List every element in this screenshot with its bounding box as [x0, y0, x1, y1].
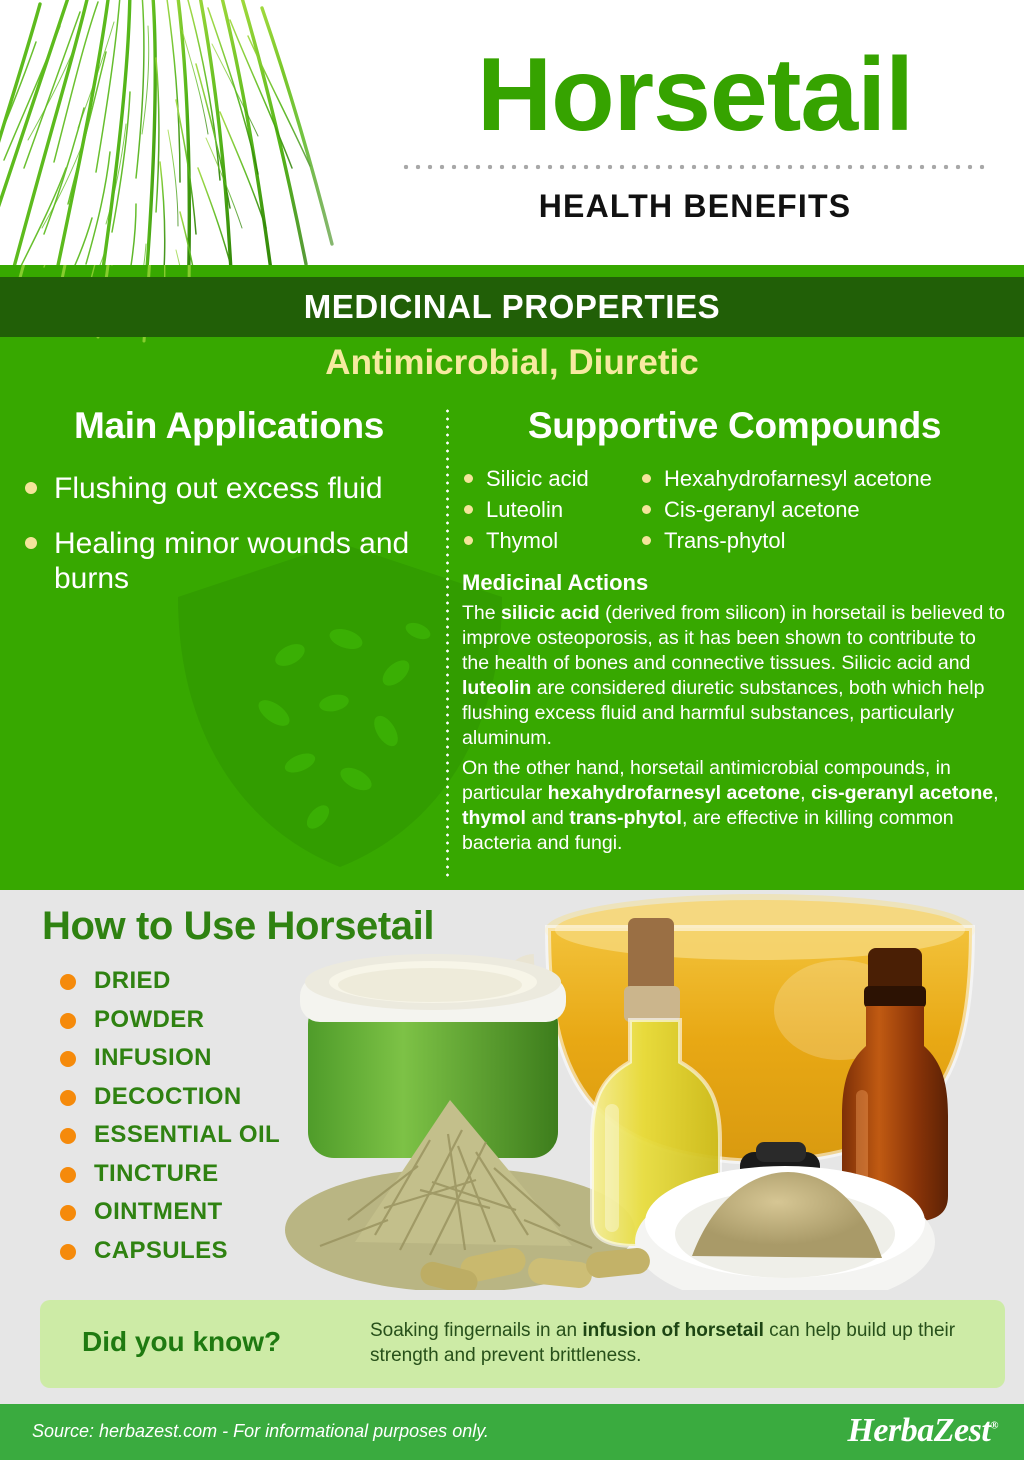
horsetail-plant-photo [0, 0, 400, 265]
bullet-icon [60, 974, 76, 990]
footer-bar: Source: herbazest.com - For informationa… [0, 1404, 1024, 1460]
medicinal-properties-banner: MEDICINAL PROPERTIES [0, 277, 1024, 337]
supportive-compounds-column: Supportive Compounds Silicic acid Luteol… [462, 405, 1007, 856]
infographic-page: Horsetail HEALTH BENEFITS [0, 0, 1024, 1460]
medicinal-actions-heading: Medicinal Actions [462, 570, 1007, 596]
bullet-icon [60, 1128, 76, 1144]
list-item: Hexahydrofarnesyl acetone [640, 463, 1000, 494]
list-item: Silicic acid [462, 463, 640, 494]
two-column-content: Main Applications Flushing out excess fl… [0, 405, 1024, 885]
list-item: ESSENTIAL OIL [60, 1116, 280, 1155]
main-applications-heading: Main Applications [20, 405, 438, 447]
list-item-label: Flushing out excess fluid [54, 472, 383, 505]
list-item: INFUSION [60, 1039, 280, 1078]
list-item-label: INFUSION [94, 1044, 212, 1071]
list-item: Luteolin [462, 494, 640, 525]
page-title: Horsetail [395, 36, 995, 154]
source-note: Source: herbazest.com - For informationa… [32, 1421, 489, 1442]
bullet-icon [25, 482, 37, 494]
bullet-icon [642, 536, 651, 545]
medicinal-properties-label: MEDICINAL PROPERTIES [304, 288, 721, 326]
list-item-label: Thymol [486, 528, 558, 553]
list-item: OINTMENT [60, 1193, 280, 1232]
horsetail-products-photo [280, 890, 1024, 1290]
bullet-icon [60, 1051, 76, 1067]
dotted-divider [400, 164, 990, 170]
list-item-label: Cis-geranyl acetone [664, 497, 860, 522]
list-item-label: Silicic acid [486, 466, 589, 491]
compounds-list-a: Silicic acid Luteolin Thymol [462, 463, 640, 556]
list-item-label: Healing minor wounds and burns [54, 527, 409, 595]
bullet-icon [464, 505, 473, 514]
did-you-know-label: Did you know? [82, 1326, 281, 1358]
list-item-label: DECOCTION [94, 1083, 242, 1110]
bullet-icon [642, 474, 651, 483]
list-item: CAPSULES [60, 1232, 280, 1271]
how-to-use-list: DRIED POWDER INFUSION DECOCTION ESSENTIA… [60, 962, 280, 1270]
list-item-label: Hexahydrofarnesyl acetone [664, 466, 932, 491]
bullet-icon [60, 1244, 76, 1260]
list-item-label: OINTMENT [94, 1198, 223, 1225]
medicinal-properties-section: MEDICINAL PROPERTIES Antimicrobial, Diur… [0, 265, 1024, 890]
did-you-know-text: Soaking fingernails in an infusion of ho… [370, 1318, 985, 1368]
brand-name: HerbaZest [847, 1412, 990, 1449]
header-text-block: Horsetail HEALTH BENEFITS [395, 36, 995, 225]
list-item: TINCTURE [60, 1155, 280, 1194]
brand-logo: HerbaZest® [847, 1412, 998, 1450]
did-you-know-box: Did you know? Soaking fingernails in an … [40, 1300, 1005, 1388]
list-item-label: Luteolin [486, 497, 563, 522]
compounds-columns: Silicic acid Luteolin Thymol [462, 463, 1007, 556]
bullet-icon [60, 1205, 76, 1221]
list-item-label: ESSENTIAL OIL [94, 1121, 280, 1148]
bullet-icon [25, 537, 37, 549]
header-section: Horsetail HEALTH BENEFITS [0, 0, 1024, 265]
registered-mark: ® [990, 1420, 998, 1432]
supportive-compounds-heading: Supportive Compounds [462, 405, 1007, 447]
bullet-icon [60, 1090, 76, 1106]
list-item-label: TINCTURE [94, 1160, 219, 1187]
main-applications-list: Flushing out excess fluid Healing minor … [20, 471, 438, 596]
bullet-icon [60, 1167, 76, 1183]
medicinal-properties-value: Antimicrobial, Diuretic [0, 343, 1024, 383]
list-item: Cis-geranyl acetone [640, 494, 1000, 525]
list-item-label: POWDER [94, 1006, 204, 1033]
list-item-label: Trans-phytol [664, 528, 785, 553]
column-divider [446, 407, 449, 879]
list-item: DECOCTION [60, 1078, 280, 1117]
list-item: Healing minor wounds and burns [20, 526, 438, 596]
bullet-icon [464, 536, 473, 545]
bullet-icon [642, 505, 651, 514]
bullet-icon [464, 474, 473, 483]
page-subtitle: HEALTH BENEFITS [395, 188, 995, 225]
list-item-label: CAPSULES [94, 1237, 228, 1264]
medicinal-actions-paragraph-1: The silicic acid (derived from silicon) … [462, 601, 1007, 751]
compounds-list-b: Hexahydrofarnesyl acetone Cis-geranyl ac… [640, 463, 1000, 556]
bullet-icon [60, 1013, 76, 1029]
main-applications-column: Main Applications Flushing out excess fl… [20, 405, 438, 616]
how-to-use-heading: How to Use Horsetail [42, 904, 434, 949]
list-item: DRIED [60, 962, 280, 1001]
list-item: POWDER [60, 1001, 280, 1040]
list-item-label: DRIED [94, 967, 171, 994]
medicinal-actions-paragraph-2: On the other hand, horsetail antimicrobi… [462, 756, 1007, 856]
how-to-use-section: How to Use Horsetail DRIED POWDER INFUSI… [0, 890, 1024, 1290]
list-item: Thymol [462, 525, 640, 556]
list-item: Trans-phytol [640, 525, 1000, 556]
list-item: Flushing out excess fluid [20, 471, 438, 506]
